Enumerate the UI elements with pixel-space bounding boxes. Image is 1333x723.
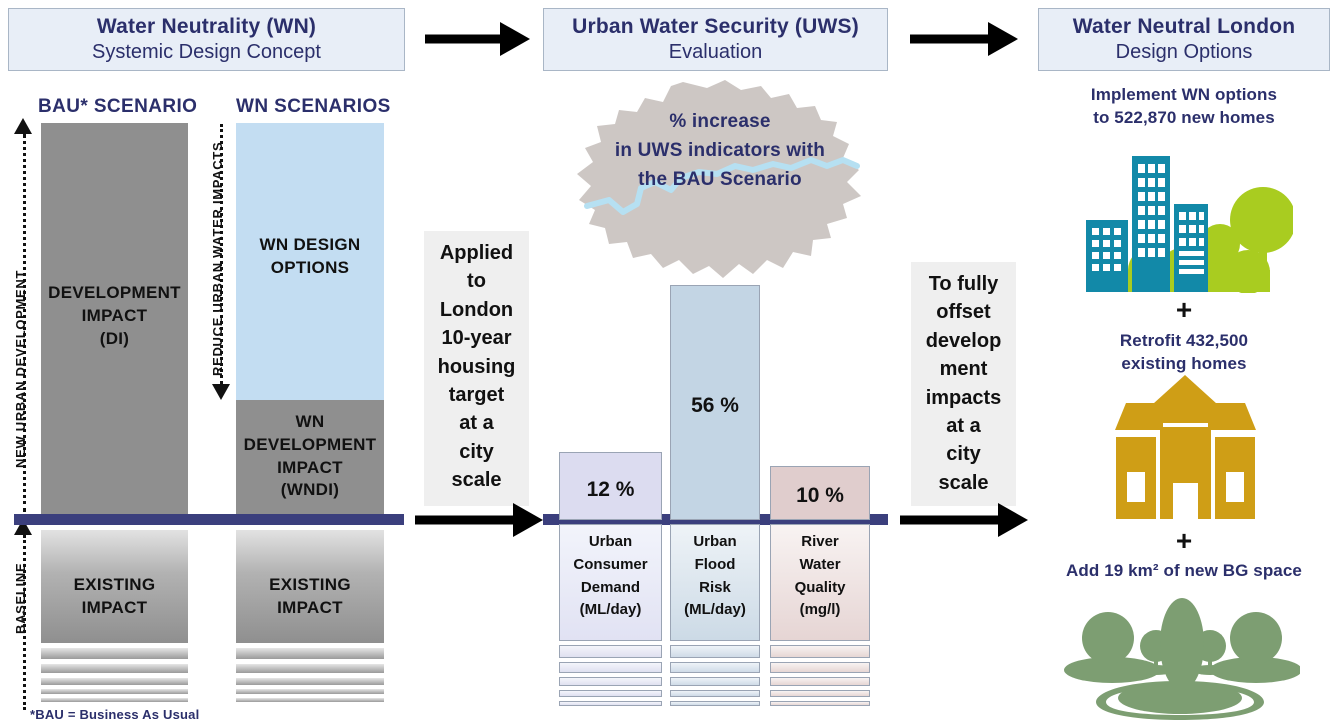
- connector-right-text: To fully offset develop ment impacts at …: [926, 270, 1002, 497]
- plus-sign-1: +: [1038, 296, 1330, 324]
- header-box-uws-eval: Urban Water Security (UWS) Evaluation: [543, 8, 888, 71]
- uws-bar-river-water-quality: 10 %: [770, 466, 870, 520]
- uws-bar-stripe: [770, 662, 870, 673]
- arrow-left-to-middle: [415, 503, 543, 537]
- axis-label-baseline: BASELINE: [13, 563, 28, 634]
- city-buildings-trees-icon: [1078, 128, 1293, 293]
- header-title-line2: Evaluation: [669, 40, 762, 64]
- uws-bar-category-urban-consumer-demand: Urban Consumer Demand (ML/day): [559, 524, 662, 641]
- right-item1-text: Implement WN options to 522,870 new home…: [1038, 84, 1330, 130]
- uws-bar-stripe: [770, 645, 870, 658]
- baseline-bar-left: [14, 514, 404, 525]
- bar-stripe: [236, 678, 384, 685]
- bar-stripe: [236, 698, 384, 702]
- plus-sign-2: +: [1038, 527, 1330, 555]
- uws-bar-category-river-water-quality: River Water Quality (mg/l): [770, 524, 870, 641]
- header-title-line2: Design Options: [1116, 40, 1253, 64]
- arrow-shaft: [900, 516, 998, 525]
- header-title-line1: Urban Water Security (UWS): [572, 15, 859, 39]
- label-wn-development-impact: WN DEVELOPMENT IMPACT (WNDI): [231, 411, 389, 502]
- bar-stripe: [236, 648, 384, 659]
- map-caption: % increase in UWS indicators with the BA…: [575, 108, 865, 195]
- axis-arrowhead-down: [212, 384, 230, 400]
- uws-bar-value-label: 12 %: [560, 478, 661, 502]
- axis-label-new-urban-development: NEW URBAN DEVELOPMENT: [13, 270, 28, 468]
- arrow-head: [998, 503, 1028, 537]
- arrow-shaft: [425, 35, 503, 44]
- header-box-wn-london: Water Neutral London Design Options: [1038, 8, 1330, 71]
- uws-bar-urban-consumer-demand: 12 %: [559, 452, 662, 520]
- connector-box-applied-to-london: Applied to London 10-year housing target…: [424, 231, 529, 506]
- uws-bar-urban-flood-risk: 56 %: [670, 285, 760, 520]
- footnote-bau: *BAU = Business As Usual: [30, 707, 199, 722]
- bar-stripe: [236, 664, 384, 673]
- header-title-line1: Water Neutral London: [1073, 15, 1296, 39]
- uws-bar-stripe: [670, 662, 760, 673]
- bar-stripe: [41, 698, 188, 702]
- bar-stripe: [41, 689, 188, 694]
- label-development-impact: DEVELOPMENT IMPACT (DI): [41, 282, 188, 350]
- right-item3-text: Add 19 km² of new BG space: [1038, 560, 1330, 583]
- uws-bar-stripe: [670, 677, 760, 686]
- arrow-header-2: [910, 22, 1018, 56]
- column-header-bau: BAU* SCENARIO: [38, 96, 197, 118]
- uws-bar-stripe: [670, 701, 760, 706]
- uws-bar-stripe: [670, 645, 760, 658]
- uws-bar-stripe: [770, 701, 870, 706]
- uws-bar-stripe: [559, 690, 662, 697]
- arrow-head: [513, 503, 543, 537]
- london-map-graphic: % increase in UWS indicators with the BA…: [575, 78, 865, 303]
- bar-stripe: [41, 648, 188, 659]
- bar-stripe: [41, 678, 188, 685]
- blue-green-space-trees-icon: [1060, 586, 1300, 721]
- connector-left-text: Applied to London 10-year housing target…: [438, 239, 516, 495]
- arrow-head: [500, 22, 530, 56]
- connector-box-offset-impacts: To fully offset develop ment impacts at …: [911, 262, 1016, 506]
- uws-bar-stripe: [559, 645, 662, 658]
- uws-bar-stripe: [670, 690, 760, 697]
- header-title-line1: Water Neutrality (WN): [97, 15, 316, 39]
- header-title-line2: Systemic Design Concept: [92, 40, 321, 64]
- uws-bar-value-label: 56 %: [671, 394, 759, 418]
- house-retrofit-icon: [1113, 375, 1258, 520]
- uws-bar-stripe: [559, 662, 662, 673]
- bar-stripe: [41, 664, 188, 673]
- uws-bar-value-label: 10 %: [771, 484, 869, 508]
- uws-bar-stripe: [770, 677, 870, 686]
- arrow-header-1: [425, 22, 530, 56]
- column-header-wn: WN SCENARIOS: [236, 96, 391, 118]
- label-wn-existing-impact: EXISTING IMPACT: [236, 574, 384, 620]
- right-item2-text: Retrofit 432,500 existing homes: [1038, 330, 1330, 376]
- uws-bar-stripe: [559, 677, 662, 686]
- arrow-shaft: [910, 35, 990, 44]
- label-wn-design-options: WN DESIGN OPTIONS: [236, 234, 384, 280]
- arrow-middle-to-right: [900, 503, 1028, 537]
- diagram-canvas: Water Neutrality (WN) Systemic Design Co…: [0, 0, 1333, 723]
- label-bau-existing-impact: EXISTING IMPACT: [41, 574, 188, 620]
- bar-stripe: [236, 689, 384, 694]
- uws-bar-stripe: [559, 701, 662, 706]
- header-box-wn-concept: Water Neutrality (WN) Systemic Design Co…: [8, 8, 405, 71]
- axis-arrowhead-up: [14, 118, 32, 134]
- arrow-head: [988, 22, 1018, 56]
- arrow-shaft: [415, 516, 513, 525]
- uws-bar-category-urban-flood-risk: Urban Flood Risk (ML/day): [670, 524, 760, 641]
- axis-label-reduce-urban-water-impacts: REDUCE URBAN WATER IMPACTS: [210, 142, 225, 376]
- uws-bar-stripe: [770, 690, 870, 697]
